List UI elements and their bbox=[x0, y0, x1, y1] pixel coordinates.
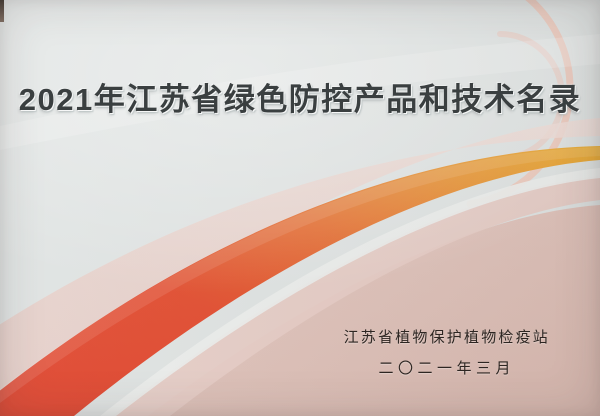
issuer-organization: 江苏省植物保护植物检疫站 bbox=[344, 326, 550, 347]
issuer-block: 江苏省植物保护植物检疫站 二〇二一年三月 bbox=[344, 326, 550, 378]
issue-date: 二〇二一年三月 bbox=[344, 357, 550, 378]
photo-edge-sliver bbox=[0, 0, 4, 22]
cover-title: 2021年江苏省绿色防控产品和技术名录 bbox=[0, 74, 600, 119]
report-cover-photo: 2021年江苏省绿色防控产品和技术名录 江苏省植物保护植物检疫站 二〇二一年三月 bbox=[0, 0, 600, 416]
